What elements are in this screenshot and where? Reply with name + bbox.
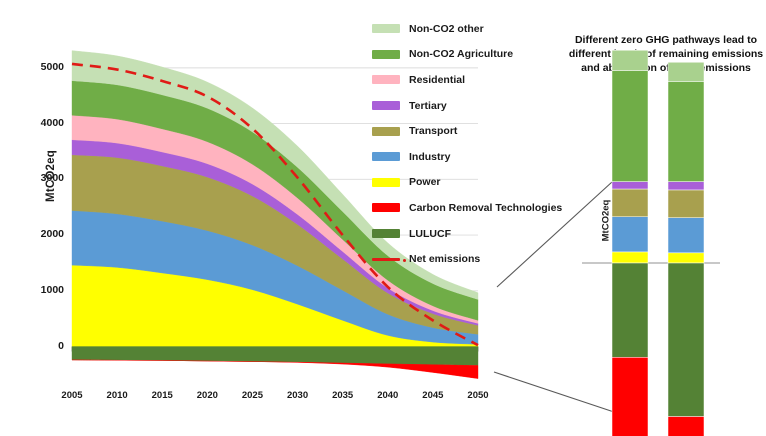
x-tick-label: 2025 (232, 390, 272, 401)
legend-item-tertiary[interactable]: Tertiary (372, 93, 540, 119)
callout-bar-0-segment-carbon-removal-technologies (612, 357, 648, 436)
y-tick-label: 4000 (22, 117, 64, 129)
legend-swatch (372, 101, 400, 110)
legend-label: Carbon Removal Technologies (409, 202, 562, 214)
x-tick-label: 2015 (142, 390, 182, 401)
legend-swatch (372, 50, 400, 59)
callout-bar-1-segment-tertiary (668, 182, 704, 190)
legend-swatch (372, 178, 400, 187)
legend-swatch (372, 203, 400, 212)
chart-legend: Non-CO2 otherNon-CO2 AgricultureResident… (372, 16, 540, 272)
callout-bar-0-segment-industry (612, 217, 648, 252)
x-tick-label: 2045 (413, 390, 453, 401)
legend-swatch (372, 152, 400, 161)
legend-item-non-co2-agriculture[interactable]: Non-CO2 Agriculture (372, 42, 540, 68)
legend-item-non-co2-other[interactable]: Non-CO2 other (372, 16, 540, 42)
legend-swatch (372, 258, 400, 261)
legend-label: Industry (409, 151, 450, 163)
callout-panel: Different zero GHG pathways lead to diff… (560, 0, 766, 436)
legend-item-carbon-removal-technologies[interactable]: Carbon Removal Technologies (372, 195, 540, 221)
legend-label: Non-CO2 other (409, 23, 484, 35)
y-tick-label: 2000 (22, 228, 64, 240)
legend-label: Residential (409, 74, 465, 86)
callout-bar-1-segment-non-co2-other (668, 62, 704, 81)
x-tick-label: 2035 (323, 390, 363, 401)
y-tick-label: 1000 (22, 284, 64, 296)
legend-swatch (372, 229, 400, 238)
legend-label: Non-CO2 Agriculture (409, 48, 513, 60)
callout-bar-1-segment-non-co2-agriculture (668, 82, 704, 182)
callout-bar-1-segment-transport (668, 190, 704, 218)
legend-item-transport[interactable]: Transport (372, 118, 540, 144)
callout-bar-1-segment-lulucf (668, 263, 704, 417)
x-tick-label: 2050 (458, 390, 498, 401)
legend-label: Tertiary (409, 100, 447, 112)
legend-item-lulucf[interactable]: LULUCF (372, 221, 540, 247)
legend-item-residential[interactable]: Residential (372, 67, 540, 93)
legend-item-power[interactable]: Power (372, 170, 540, 196)
x-tick-label: 2005 (52, 390, 92, 401)
area-series-lulucf (72, 347, 478, 366)
y-tick-label: 3000 (22, 172, 64, 184)
callout-bar-1-segment-carbon-removal-technologies (668, 417, 704, 436)
legend-item-net-emissions[interactable]: Net emissions (372, 246, 540, 272)
callout-bar-0-segment-non-co2-agriculture (612, 71, 648, 182)
x-tick-label: 2040 (368, 390, 408, 401)
figure-root: MtCO2eq 500040003000200010000 2005201020… (0, 0, 766, 436)
y-tick-label: 5000 (22, 61, 64, 73)
callout-bar-1-segment-industry (668, 218, 704, 253)
callout-bars-svg (560, 0, 766, 436)
legend-label: Transport (409, 125, 457, 137)
x-tick-label: 2010 (97, 390, 137, 401)
legend-item-industry[interactable]: Industry (372, 144, 540, 170)
legend-swatch (372, 75, 400, 84)
x-tick-label: 2020 (187, 390, 227, 401)
x-tick-label: 2030 (278, 390, 318, 401)
callout-bar-0-segment-power (612, 252, 648, 263)
legend-label: Net emissions (409, 253, 480, 265)
callout-bar-1-segment-power (668, 253, 704, 263)
legend-swatch (372, 24, 400, 33)
legend-label: LULUCF (409, 228, 451, 240)
legend-swatch (372, 127, 400, 136)
callout-bar-0-segment-tertiary (612, 182, 648, 189)
legend-label: Power (409, 176, 441, 188)
y-tick-label: 0 (22, 340, 64, 352)
callout-bar-0-segment-non-co2-other (612, 50, 648, 70)
callout-bar-0-segment-lulucf (612, 263, 648, 357)
callout-bar-0-segment-transport (612, 189, 648, 217)
